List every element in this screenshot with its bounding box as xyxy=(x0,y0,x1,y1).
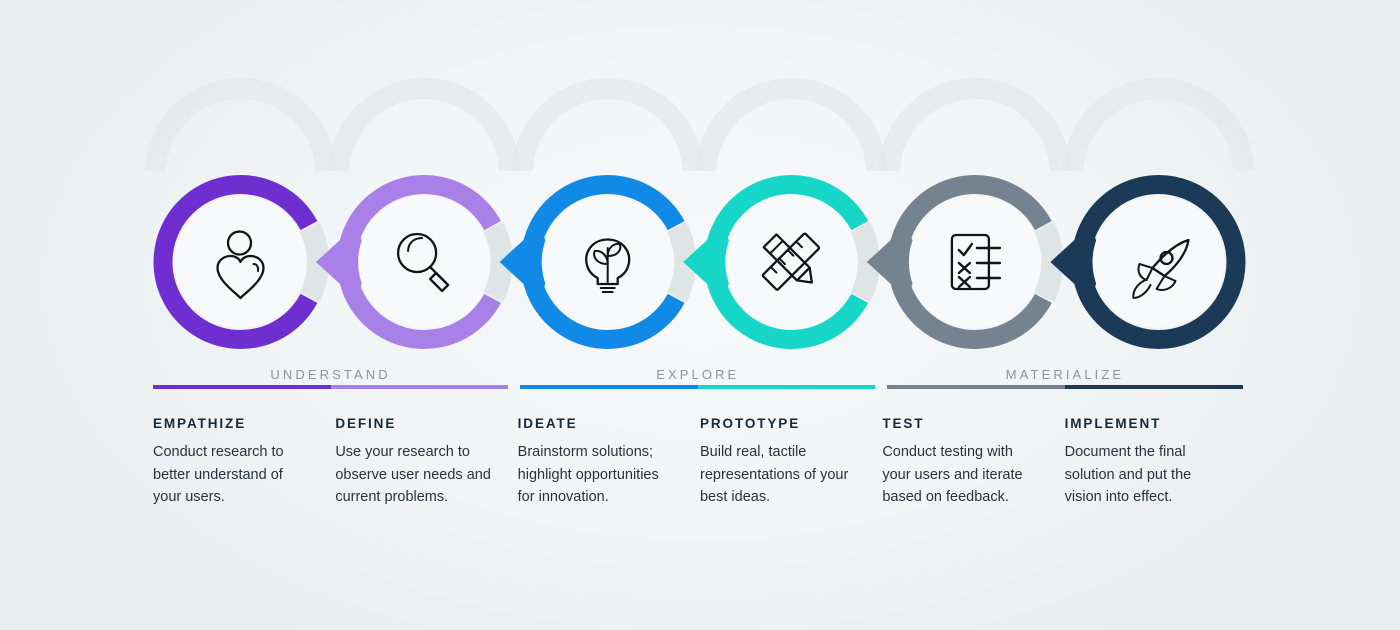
step-text-row: EMPATHIZEConduct research to better unde… xyxy=(153,416,1247,509)
step-column-prototype: PROTOTYPEBuild real, tactile representat… xyxy=(700,416,882,509)
step-title: TEST xyxy=(882,416,1042,431)
step-description: Use your research to observe user needs … xyxy=(335,441,495,509)
ghost-arc xyxy=(339,88,510,171)
process-diagram xyxy=(0,0,1400,630)
process-rings xyxy=(163,185,1236,340)
step-column-define: DEFINEUse your research to observe user … xyxy=(335,416,517,509)
circle-disc xyxy=(725,196,857,328)
step-title: EMPATHIZE xyxy=(153,416,313,431)
step-description: Document the final solution and put the … xyxy=(1065,441,1225,509)
infographic-canvas: UNDERSTANDEXPLOREMATERIALIZE EMPATHIZECo… xyxy=(0,0,1400,630)
circle-disc xyxy=(358,196,490,328)
step-title: IDEATE xyxy=(518,416,678,431)
step-description: Conduct research to better understand of… xyxy=(153,441,313,509)
step-title: DEFINE xyxy=(335,416,495,431)
circle-disc xyxy=(909,196,1041,328)
group-divider-bar xyxy=(887,385,1242,389)
ghost-arc xyxy=(706,88,877,171)
step-column-ideate: IDEATEBrainstorm solutions; highlight op… xyxy=(518,416,700,509)
step-description: Conduct testing with your users and iter… xyxy=(882,441,1042,509)
group-bar-segment xyxy=(153,385,331,389)
group-label-understand: UNDERSTAND xyxy=(153,367,508,382)
group-bar-segment xyxy=(520,385,698,389)
step-column-implement: IMPLEMENTDocument the final solution and… xyxy=(1065,416,1247,509)
step-column-empathize: EMPATHIZEConduct research to better unde… xyxy=(153,416,335,509)
ghost-arc xyxy=(522,88,693,171)
group-divider-bar xyxy=(520,385,875,389)
ghost-arc xyxy=(889,88,1060,171)
step-title: PROTOTYPE xyxy=(700,416,860,431)
ghost-arc xyxy=(155,88,326,171)
decorative-ghost-arcs xyxy=(155,88,1244,171)
group-bar-segment xyxy=(887,385,1065,389)
group-label-materialize: MATERIALIZE xyxy=(887,367,1242,382)
ghost-arc xyxy=(1073,88,1244,171)
group-bar-segment xyxy=(1065,385,1243,389)
step-description: Brainstorm solutions; highlight opportun… xyxy=(518,441,678,509)
group-bar-segment xyxy=(331,385,509,389)
step-title: IMPLEMENT xyxy=(1065,416,1225,431)
group-divider-bar xyxy=(153,385,508,389)
group-label-explore: EXPLORE xyxy=(520,367,875,382)
step-column-test: TESTConduct testing with your users and … xyxy=(882,416,1064,509)
group-bar-segment xyxy=(698,385,876,389)
step-description: Build real, tactile representations of y… xyxy=(700,441,860,509)
